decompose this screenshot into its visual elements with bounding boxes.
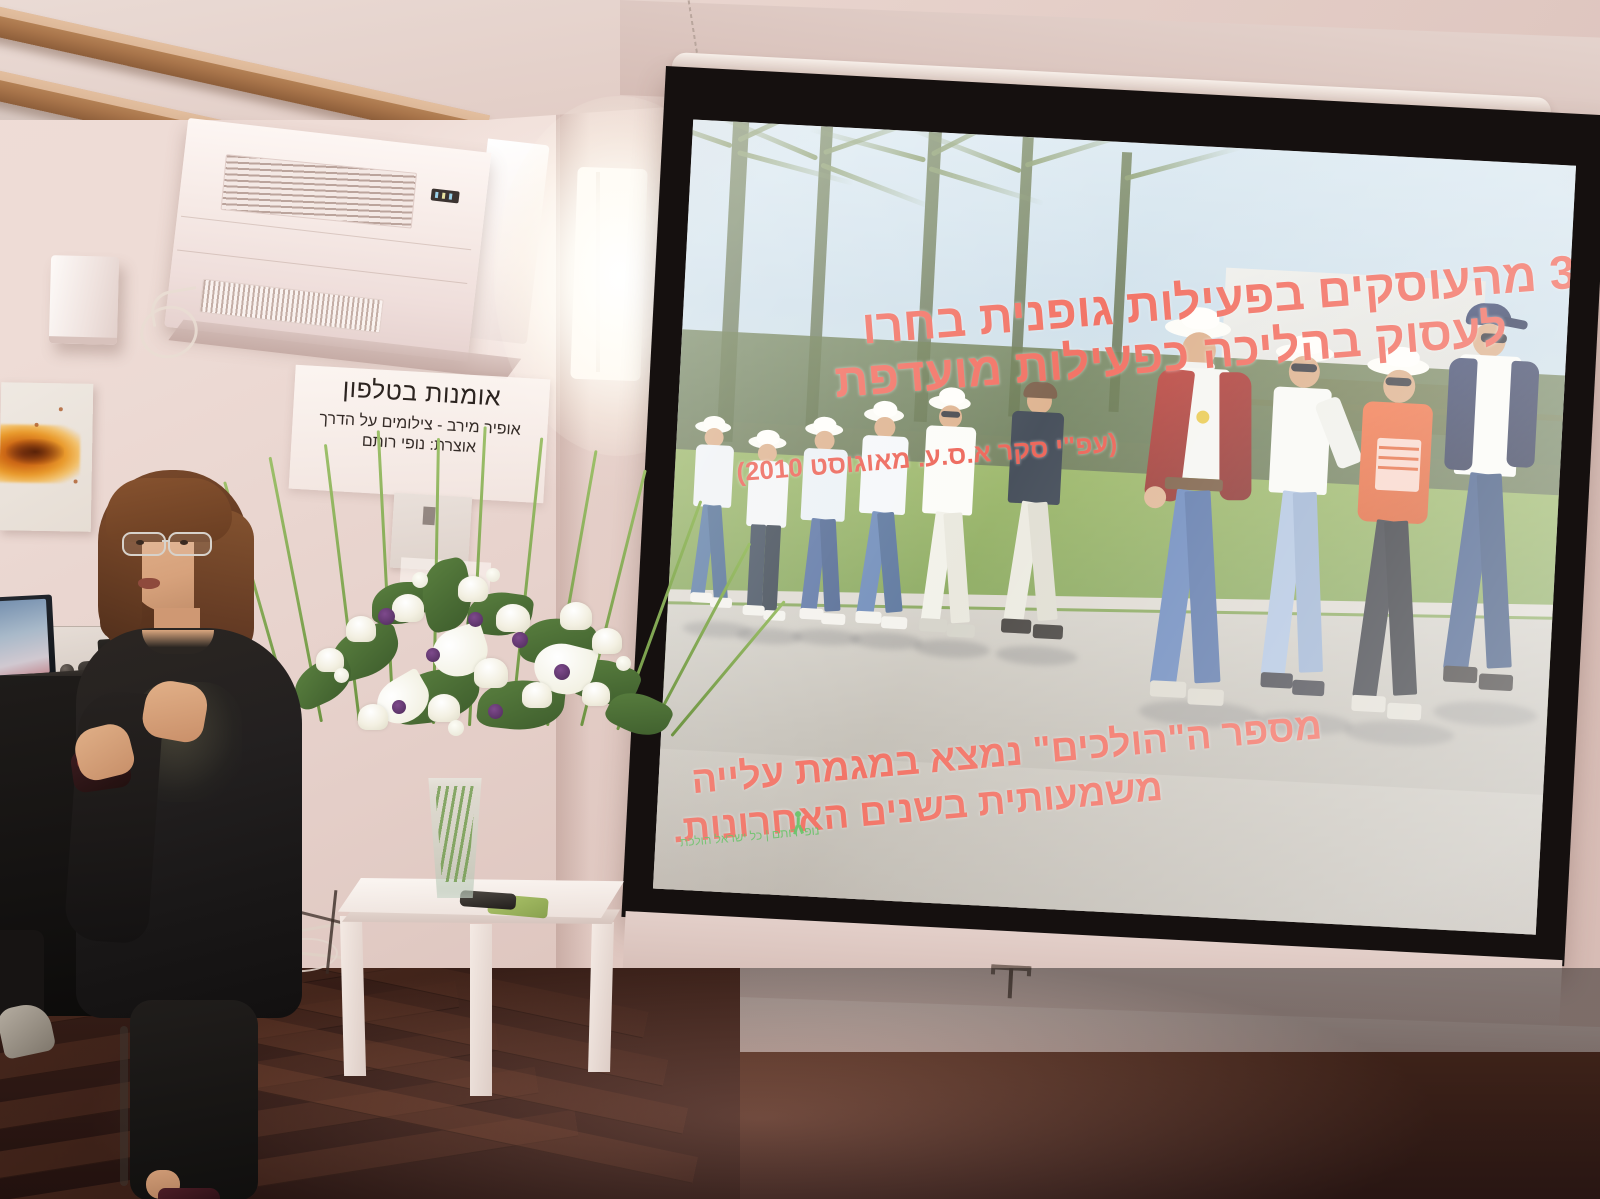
wall-sconce-lamp[interactable] [570,167,647,381]
flower-bouquet [272,432,702,802]
wall-speaker [49,255,119,345]
ac-display-icon [431,188,460,203]
room-scene: אומנות בטלפון אופיר מירב - צילומים על הד… [0,0,1600,1199]
laptop-display [0,599,50,676]
air-conditioner-unit [163,104,553,382]
table-leg [588,922,614,1072]
laptop[interactable] [0,594,56,683]
ceiling [0,0,700,120]
sign-title: אומנות בטלפון [304,373,540,414]
table-leg [470,924,492,1096]
presenter-shoe [158,1188,220,1199]
projection-screen[interactable]: 38% מהעוסקים בפעילות גופנית בחרו לעסוק ב… [613,66,1600,1124]
presenter [58,470,328,1199]
sconce-trim [596,172,600,372]
artwork-core [6,438,64,465]
side-table [338,878,624,1080]
screen-pull-handle[interactable] [990,964,1032,1000]
table-leg [340,916,366,1076]
ac-intake-grille [221,154,418,228]
presenter-leg-seam [120,1026,128,1186]
walking-person-icon [790,811,806,834]
presenter-legs [130,1000,258,1199]
eyeglasses-icon [122,532,228,554]
screen-black-border: 38% מהעוסקים בפעילות גופנית בחרו לעסוק ב… [621,66,1600,966]
projected-slide: 38% מהעוסקים בפעילות גופנית בחרו לעסוק ב… [653,119,1576,934]
presenter-mouth [138,578,160,589]
